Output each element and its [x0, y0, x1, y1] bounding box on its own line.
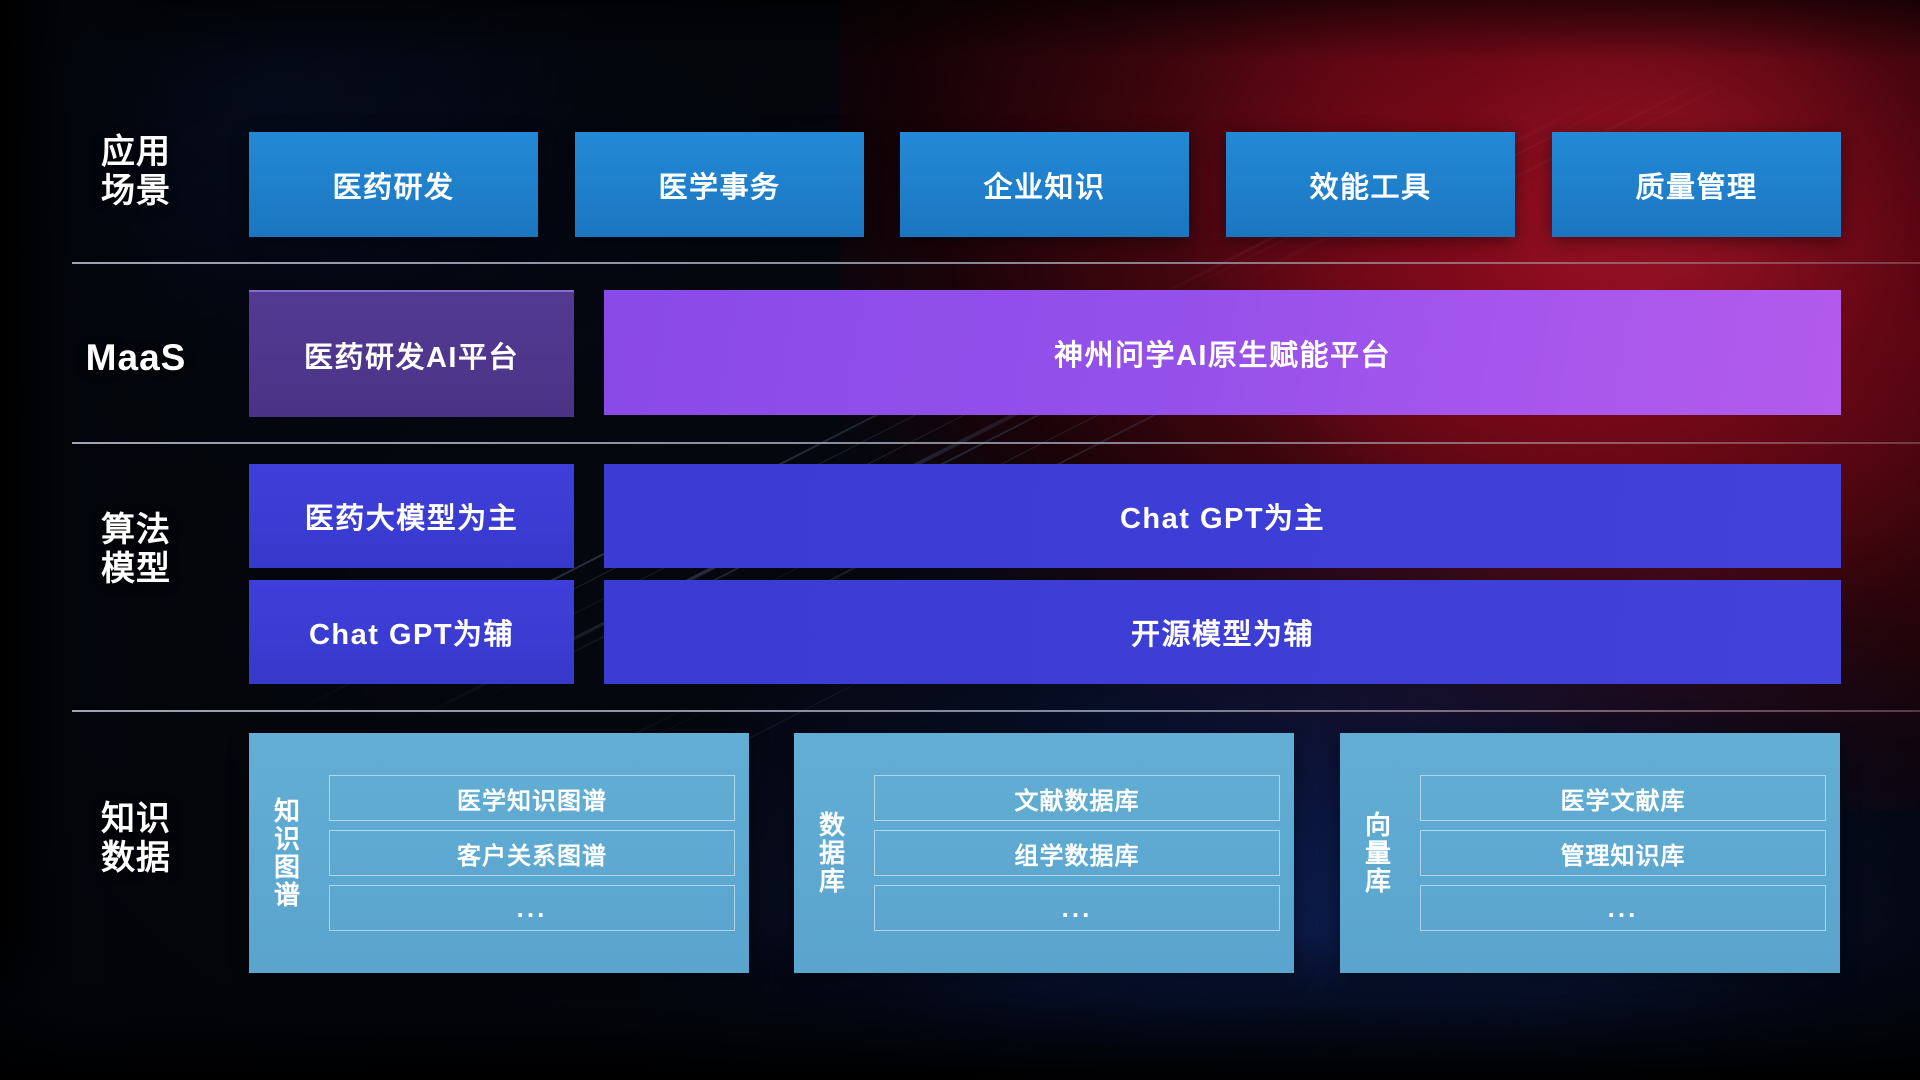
knowledge-item-label: ...	[517, 893, 548, 924]
knowledge-item-label: 管理知识库	[1561, 836, 1686, 871]
knowledge-panel-title-char: 向	[1365, 811, 1391, 839]
row-label-application: 应用 场景	[72, 133, 200, 212]
row-label-algorithm-line1: 算法	[72, 511, 200, 550]
row-label-maas: MaaS	[72, 337, 200, 380]
row-label-maas-line1: MaaS	[72, 337, 200, 380]
knowledge-panel-knowledge-graph[interactable]: 知 识 图 谱 医学知识图谱 客户关系图谱 ...	[249, 733, 749, 973]
row-label-algorithm: 算法 模型	[72, 511, 200, 590]
algo-box-label: 开源模型为辅	[1131, 611, 1314, 653]
knowledge-panel-items: 医学文献库 管理知识库 ...	[1416, 733, 1840, 973]
knowledge-panel-title-char: 知	[274, 797, 300, 825]
knowledge-item-omics-database[interactable]: 组学数据库	[874, 830, 1280, 876]
knowledge-item-medical-literature-store[interactable]: 医学文献库	[1420, 775, 1826, 821]
app-box-label: 效能工具	[1309, 164, 1431, 206]
maas-box-shenzhou-wenxue-platform[interactable]: 神州问学AI原生赋能平台	[604, 290, 1841, 415]
knowledge-panel-title-char: 库	[819, 867, 845, 895]
knowledge-item-more[interactable]: ...	[329, 885, 735, 931]
app-box-medical-affairs[interactable]: 医学事务	[575, 132, 864, 237]
knowledge-item-label: 医学文献库	[1561, 781, 1686, 816]
knowledge-item-label: 组学数据库	[1015, 836, 1140, 871]
app-box-quality-management[interactable]: 质量管理	[1552, 132, 1841, 237]
row-label-algorithm-line2: 模型	[72, 550, 200, 589]
maas-box-label: 神州问学AI原生赋能平台	[1054, 332, 1391, 374]
app-box-efficiency-tools[interactable]: 效能工具	[1226, 132, 1515, 237]
knowledge-item-label: 客户关系图谱	[457, 836, 607, 871]
maas-box-medicine-ai-platform[interactable]: 医药研发AI平台	[249, 290, 574, 417]
knowledge-panel-title-char: 谱	[274, 881, 300, 909]
maas-box-label: 医药研发AI平台	[304, 334, 519, 376]
knowledge-item-more[interactable]: ...	[1420, 885, 1826, 931]
knowledge-panel-title-char: 识	[274, 825, 300, 853]
divider-algorithm-knowledge	[72, 710, 1920, 712]
knowledge-item-label: ...	[1608, 893, 1639, 924]
knowledge-panel-database[interactable]: 数 据 库 文献数据库 组学数据库 ...	[794, 733, 1294, 973]
knowledge-panel-items: 医学知识图谱 客户关系图谱 ...	[325, 733, 749, 973]
app-box-label: 企业知识	[983, 164, 1105, 206]
row-label-knowledge-line1: 知识	[72, 800, 200, 839]
knowledge-panel-vector-store[interactable]: 向 量 库 医学文献库 管理知识库 ...	[1340, 733, 1840, 973]
row-label-application-line2: 场景	[72, 172, 200, 211]
row-label-application-line1: 应用	[72, 133, 200, 172]
knowledge-panel-title-char: 图	[274, 853, 300, 881]
app-box-enterprise-knowledge[interactable]: 企业知识	[900, 132, 1189, 237]
algo-box-chatgpt-secondary[interactable]: Chat GPT为辅	[249, 580, 574, 684]
knowledge-item-management-knowledge-store[interactable]: 管理知识库	[1420, 830, 1826, 876]
algo-box-label: Chat GPT为主	[1120, 495, 1325, 537]
row-label-knowledge: 知识 数据	[72, 800, 200, 879]
knowledge-panel-title-char: 库	[1365, 867, 1391, 895]
app-box-medicine-rd[interactable]: 医药研发	[249, 132, 538, 237]
knowledge-panel-title-knowledge-graph: 知 识 图 谱	[249, 733, 325, 973]
app-box-label: 医学事务	[658, 164, 780, 206]
algo-box-label: Chat GPT为辅	[309, 611, 514, 653]
architecture-diagram: 应用 场景 医药研发 医学事务 企业知识 效能工具 质量管理 MaaS 医药研发…	[0, 0, 1920, 1080]
knowledge-panel-title-database: 数 据 库	[794, 733, 870, 973]
knowledge-item-label: ...	[1062, 893, 1093, 924]
knowledge-panel-title-char: 量	[1365, 839, 1391, 867]
algo-box-medicine-large-model-primary[interactable]: 医药大模型为主	[249, 464, 574, 568]
knowledge-panel-title-char: 据	[819, 839, 845, 867]
app-box-label: 医药研发	[332, 164, 454, 206]
knowledge-item-label: 文献数据库	[1015, 781, 1140, 816]
algo-box-opensource-secondary[interactable]: 开源模型为辅	[604, 580, 1841, 684]
row-label-knowledge-line2: 数据	[72, 839, 200, 878]
app-box-label: 质量管理	[1635, 164, 1757, 206]
knowledge-panel-items: 文献数据库 组学数据库 ...	[870, 733, 1294, 973]
knowledge-panel-title-vector-store: 向 量 库	[1340, 733, 1416, 973]
knowledge-item-more[interactable]: ...	[874, 885, 1280, 931]
algo-box-chatgpt-primary[interactable]: Chat GPT为主	[604, 464, 1841, 568]
divider-maas-algorithm	[72, 442, 1920, 444]
divider-application-maas	[72, 262, 1920, 264]
knowledge-item-customer-relation-graph[interactable]: 客户关系图谱	[329, 830, 735, 876]
algo-box-label: 医药大模型为主	[305, 495, 519, 537]
knowledge-item-literature-database[interactable]: 文献数据库	[874, 775, 1280, 821]
knowledge-item-label: 医学知识图谱	[457, 781, 607, 816]
knowledge-item-medical-knowledge-graph[interactable]: 医学知识图谱	[329, 775, 735, 821]
knowledge-panel-title-char: 数	[819, 811, 845, 839]
